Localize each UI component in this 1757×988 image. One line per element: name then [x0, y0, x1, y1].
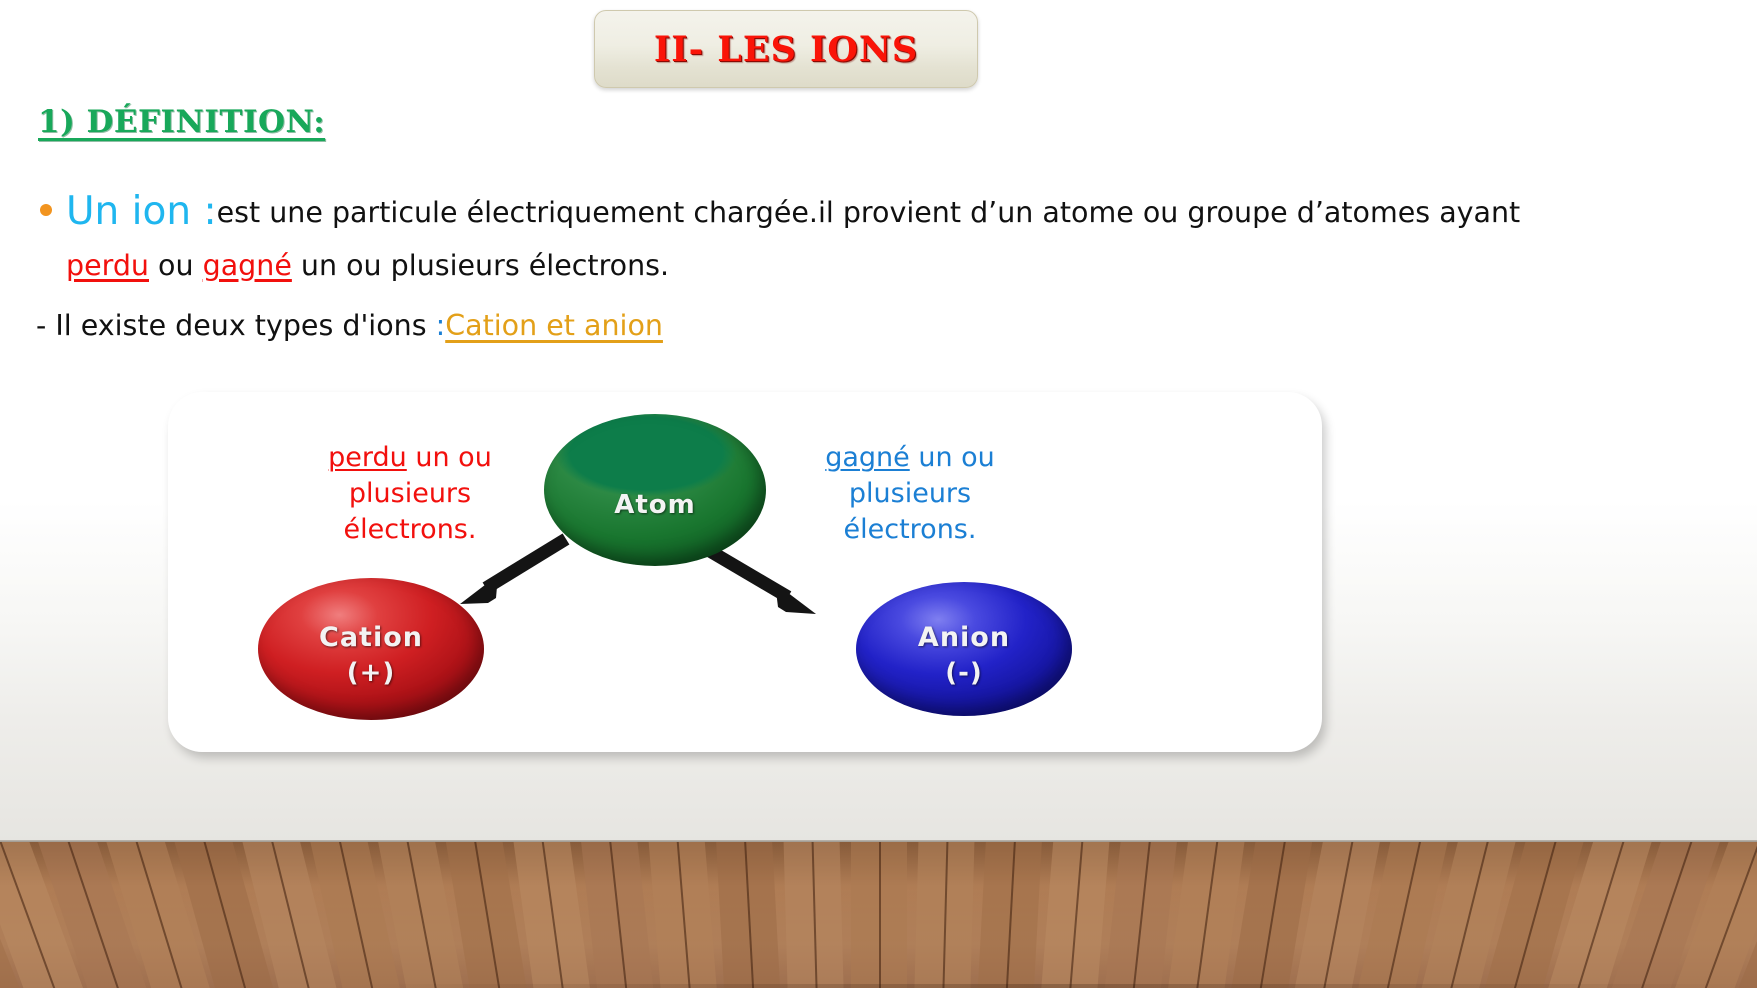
slide-title-banner: II- LES IONS	[594, 10, 978, 88]
arrow-down-left-icon	[460, 539, 566, 604]
definition-text-part2: un ou plusieurs électrons.	[292, 249, 669, 282]
caption-gagne: gagné un ou plusieurs électrons.	[800, 440, 1020, 548]
types-text-prefix: - Il existe deux types d'ions	[36, 309, 436, 342]
definition-keyword-gagne: gagné	[203, 249, 292, 282]
anion-oval-label: Anion	[856, 622, 1072, 653]
anion-charge-label: (-)	[856, 658, 1072, 688]
types-colon: :	[436, 309, 446, 342]
wooden-floor-background	[0, 842, 1757, 988]
caption-perdu: perdu un ou plusieurs électrons.	[300, 440, 520, 548]
bullet-dot-icon	[40, 204, 52, 216]
section-heading-definition: 1) DÉFINITION:	[38, 104, 325, 140]
atom-oval: Atom	[544, 414, 766, 566]
body-text-block: Un ion :est une particule électriquement…	[36, 186, 1536, 292]
cation-charge-label: (+)	[258, 658, 484, 688]
definition-text-part1: est une particule électriquement chargée…	[217, 196, 1521, 229]
cation-oval: Cation (+)	[258, 578, 484, 720]
bottom-accent-strip	[0, 984, 1757, 988]
arrow-down-right-icon	[698, 544, 816, 614]
definition-keyword-perdu: perdu	[66, 249, 149, 282]
types-link-cation-anion[interactable]: Cation et anion	[445, 309, 663, 342]
slide-canvas: II- LES IONS 1) DÉFINITION: Un ion :est …	[0, 0, 1757, 988]
caption-gagne-keyword: gagné	[825, 442, 910, 473]
floor-plank	[1037, 842, 1112, 988]
caption-perdu-keyword: perdu	[328, 442, 407, 473]
definition-paragraph: Un ion :est une particule électriquement…	[36, 186, 1536, 292]
page-title: II- LES IONS	[654, 29, 918, 70]
cation-oval-label: Cation	[258, 622, 484, 653]
floor-plank	[1099, 842, 1181, 988]
lead-term-un-ion: Un ion :	[66, 189, 217, 234]
anion-oval: Anion (-)	[856, 582, 1072, 716]
floor-plank-seam	[879, 842, 881, 988]
definition-text-or: ou	[149, 249, 203, 282]
atom-oval-label: Atom	[544, 490, 766, 520]
types-paragraph: - Il existe deux types d'ions :Cation et…	[36, 306, 663, 346]
